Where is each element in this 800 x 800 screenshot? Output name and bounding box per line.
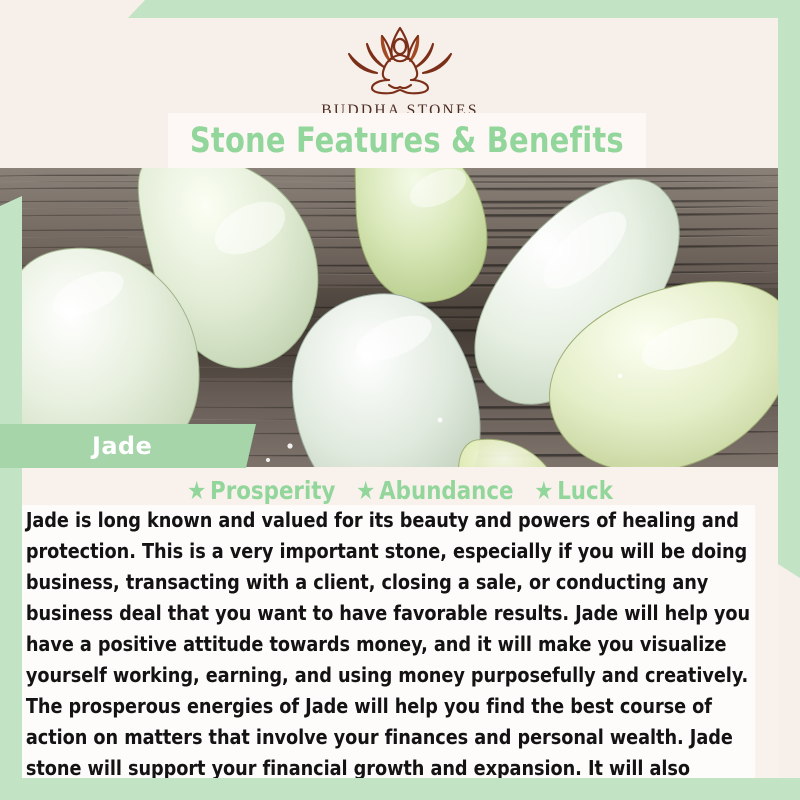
content-panel: ★Prosperity ★Abundance ★Luck Jade is lon… [22, 467, 778, 778]
benefit-item-2: ★Luck [534, 476, 613, 505]
decor-green-right-strip [778, 168, 800, 578]
lotus-meditation-logo-icon [327, 22, 473, 96]
decor-green-bottom-band [0, 778, 800, 800]
star-icon: ★ [187, 478, 206, 503]
star-icon: ★ [534, 478, 553, 503]
stone-name-label: Jade [92, 432, 152, 460]
benefit-label-1: Abundance [379, 476, 513, 505]
star-icon: ★ [356, 478, 375, 503]
stone-name-band: Jade [0, 424, 256, 468]
brand-block: BUDDHA STONES [0, 22, 800, 120]
page-title: Stone Features & Benefits [190, 121, 624, 161]
jade-stones-illustration [0, 168, 800, 467]
stone-description: Jade is long known and valued for its be… [22, 505, 755, 800]
benefits-row: ★Prosperity ★Abundance ★Luck [41, 476, 759, 505]
benefit-item-0: ★Prosperity [187, 476, 335, 505]
benefit-label-0: Prosperity [210, 476, 335, 505]
infographic-card: BUDDHA STONES Stone Features & Benefits [0, 0, 800, 800]
page-title-plaque: Stone Features & Benefits [168, 113, 646, 168]
benefit-item-1: ★Abundance [356, 476, 513, 505]
decor-green-left-strip [0, 196, 22, 800]
stone-photo [0, 168, 800, 467]
benefit-label-2: Luck [557, 476, 613, 505]
